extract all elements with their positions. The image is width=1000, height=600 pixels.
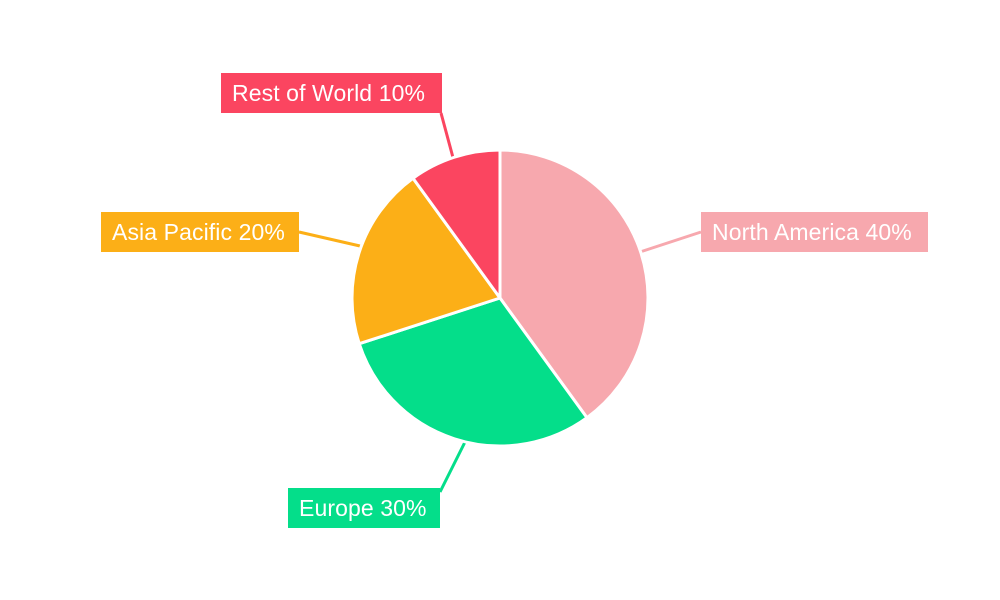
pie-label-europe[interactable]: Europe 30% — [288, 488, 440, 528]
pie-label-rest-of-world[interactable]: Rest of World 10% — [221, 73, 442, 113]
leader-line-asia-pacific — [299, 232, 360, 246]
pie-chart-canvas — [0, 0, 1000, 600]
leader-line-europe — [440, 440, 466, 492]
pie-label-asia-pacific[interactable]: Asia Pacific 20% — [101, 212, 299, 252]
leader-line-north-america — [640, 232, 701, 252]
pie-slices-group — [352, 150, 648, 446]
pie-label-north-america[interactable]: North America 40% — [701, 212, 928, 252]
pie-chart-figure: North America 40%Europe 30%Asia Pacific … — [0, 0, 1000, 600]
